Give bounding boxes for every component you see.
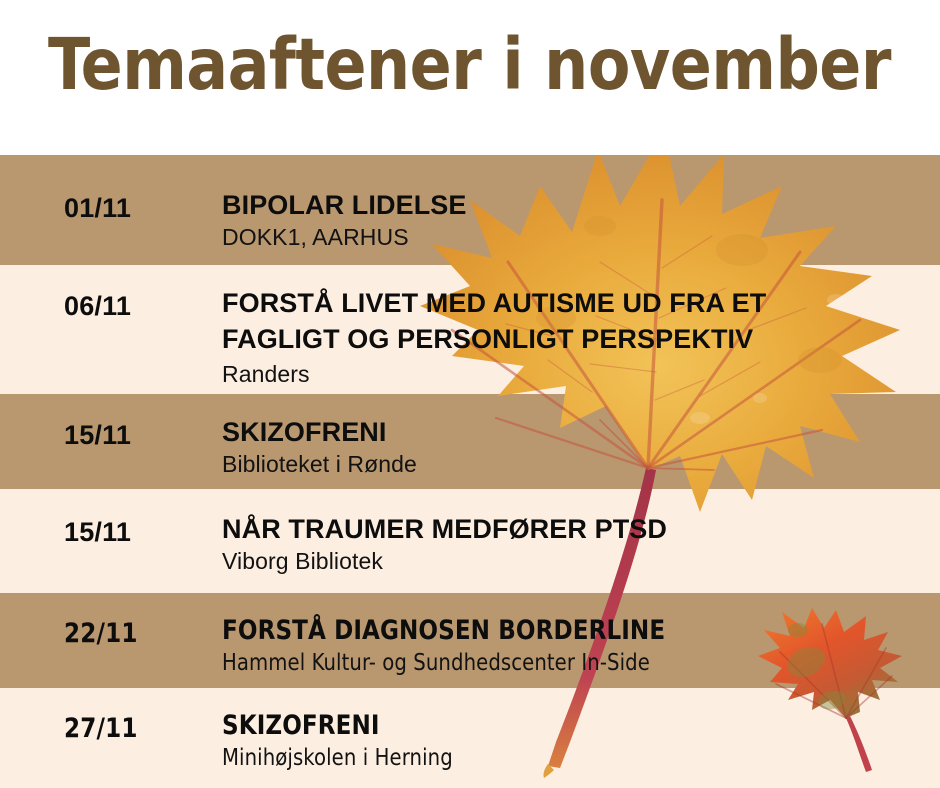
event-details: BIPOLAR LIDELSE DOKK1, AARHUS: [222, 189, 930, 252]
event-row: 15/11 NÅR TRAUMER MEDFØRER PTSD Viborg B…: [0, 489, 940, 593]
event-venue: Biblioteket i Rønde: [222, 450, 930, 479]
event-date: 15/11: [64, 517, 131, 547]
event-date: 06/11: [64, 291, 131, 321]
event-details: FORSTÅ LIVET MED AUTISME UD FRA ET FAGLI…: [222, 287, 930, 389]
title-area: Temaaftener i november: [0, 0, 940, 155]
event-title: SKIZOFRENI: [222, 710, 895, 742]
event-date: 01/11: [64, 193, 131, 223]
event-title: FORSTÅ DIAGNOSEN BORDERLINE: [222, 615, 895, 647]
event-venue: DOKK1, AARHUS: [222, 223, 930, 252]
event-title: NÅR TRAUMER MEDFØRER PTSD: [222, 513, 930, 545]
event-details: SKIZOFRENI Minihøjskolen i Herning: [222, 710, 930, 773]
event-row: 15/11 SKIZOFRENI Biblioteket i Rønde: [0, 394, 940, 489]
page-title: Temaaftener i november: [48, 24, 891, 106]
event-details: SKIZOFRENI Biblioteket i Rønde: [222, 416, 930, 479]
event-row: 06/11 FORSTÅ LIVET MED AUTISME UD FRA ET…: [0, 265, 940, 394]
event-date: 27/11: [64, 714, 138, 744]
event-row: 01/11 BIPOLAR LIDELSE DOKK1, AARHUS: [0, 155, 940, 265]
event-details: NÅR TRAUMER MEDFØRER PTSD Viborg Bibliot…: [222, 513, 930, 576]
event-date: 22/11: [64, 619, 138, 649]
event-title: BIPOLAR LIDELSE: [222, 189, 930, 221]
event-venue: Randers: [222, 360, 930, 389]
event-row: 22/11 FORSTÅ DIAGNOSEN BORDERLINE Hammel…: [0, 593, 940, 688]
event-row: 27/11 SKIZOFRENI Minihøjskolen i Herning: [0, 688, 940, 788]
event-venue: Viborg Bibliotek: [222, 547, 930, 576]
event-title-line-2: FAGLIGT OG PERSONLIGT PERSPEKTIV: [222, 323, 930, 355]
event-details: FORSTÅ DIAGNOSEN BORDERLINE Hammel Kultu…: [222, 615, 930, 678]
event-date: 15/11: [64, 420, 131, 450]
event-poster: Temaaftener i november 01/11 BIPOLAR LID…: [0, 0, 940, 788]
event-venue: Minihøjskolen i Herning: [222, 744, 895, 773]
event-venue: Hammel Kultur- og Sundhedscenter In-Side: [222, 649, 895, 678]
event-title-line-1: FORSTÅ LIVET MED AUTISME UD FRA ET: [222, 287, 930, 319]
event-title: SKIZOFRENI: [222, 416, 930, 448]
